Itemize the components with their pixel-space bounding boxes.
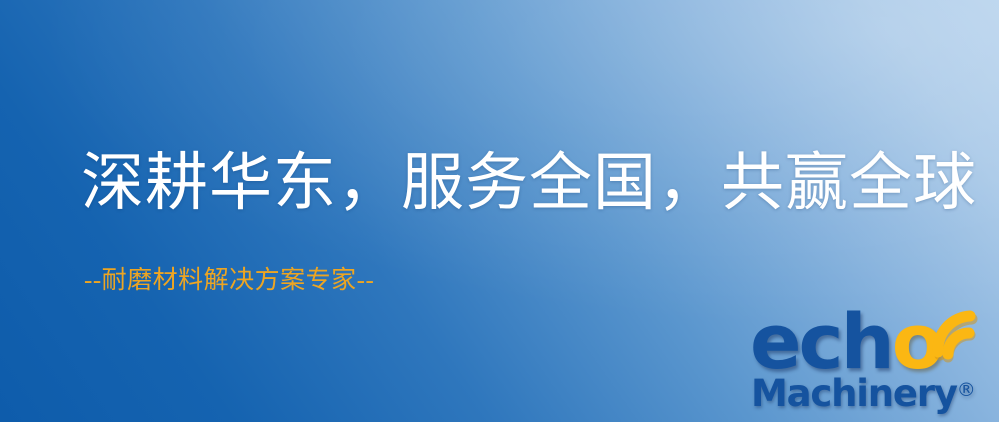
echo-machinery-logo[interactable]: echo Machinery® (748, 296, 996, 420)
banner-headline: 深耕华东，服务全国，共赢全球 (81, 152, 977, 215)
echo-wave-icon (924, 296, 996, 368)
logo-text-machinery: Machinery (751, 372, 957, 415)
banner-subtitle: --耐磨材料解决方案专家-- (84, 268, 374, 293)
hero-banner: 深耕华东，服务全国，共赢全球 --耐磨材料解决方案专家-- echo Machi… (0, 0, 999, 422)
registered-trademark-icon: ® (957, 379, 976, 401)
logo-wordmark: echo (750, 304, 941, 380)
logo-subtext-wrapper: Machinery® (751, 375, 976, 412)
